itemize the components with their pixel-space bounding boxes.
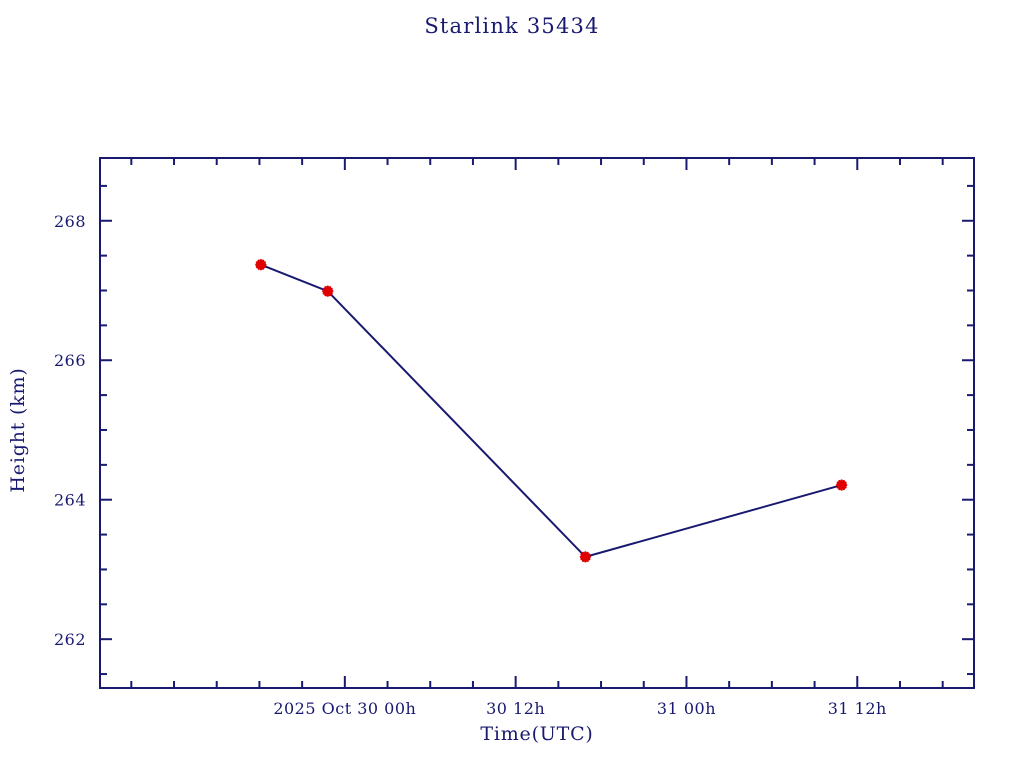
x-axis-tick-labels: 2025 Oct 30 00h30 12h31 00h31 12h [273, 699, 887, 718]
x-axis-ticks [131, 158, 942, 688]
x-tick-label: 31 12h [828, 699, 887, 718]
x-tick-label: 2025 Oct 30 00h [273, 699, 416, 718]
y-tick-label: 266 [54, 351, 86, 370]
y-axis-tick-labels: 262264266268 [54, 212, 86, 649]
y-tick-label: 264 [54, 491, 86, 510]
plot-area: 262264266268 2025 Oct 30 00h30 12h31 00h… [0, 0, 1024, 768]
data-point-marker [323, 287, 332, 296]
plot-frame [100, 158, 974, 688]
data-point-marker [837, 481, 846, 490]
data-series-line [261, 265, 842, 557]
x-tick-label: 30 12h [486, 699, 545, 718]
data-point-marker [581, 552, 590, 561]
chart-page: Starlink 35434 262264266268 2025 Oct 30 … [0, 0, 1024, 768]
x-tick-label: 31 00h [657, 699, 716, 718]
x-axis-title: Time(UTC) [480, 723, 593, 745]
y-tick-label: 268 [54, 212, 86, 231]
y-tick-label: 262 [54, 630, 86, 649]
y-axis-title: Height (km) [7, 367, 29, 492]
data-point-marker [256, 260, 265, 269]
y-axis-ticks [100, 186, 974, 674]
data-point-markers [256, 260, 846, 561]
